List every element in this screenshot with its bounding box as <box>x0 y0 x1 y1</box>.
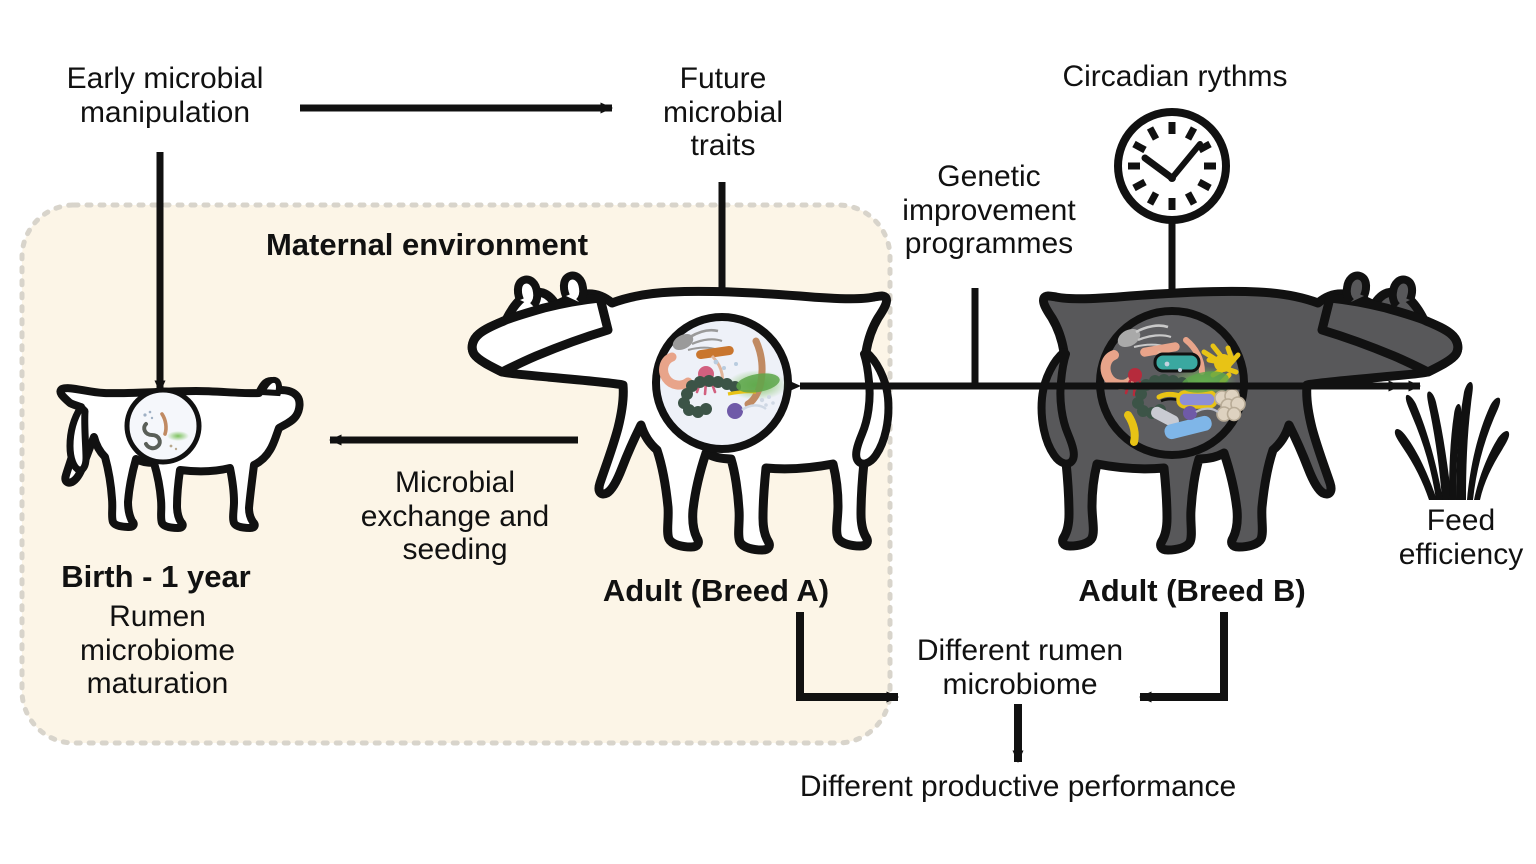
grass-icon <box>1395 382 1509 500</box>
label-future-microbial-traits: Future microbial traits <box>630 62 816 163</box>
clock-icon <box>1118 112 1226 220</box>
label-feed-efficiency: Feed efficiency <box>1386 504 1536 571</box>
label-genetic-improvement-programmes: Genetic improvement programmes <box>880 160 1098 261</box>
label-circadian-rythms: Circadian rythms <box>1030 60 1320 94</box>
label-different-productive-performance: Different productive performance <box>756 770 1280 804</box>
rumen-circle-breed-a-icon <box>656 317 788 449</box>
label-early-microbial-manipulation: Early microbial manipulation <box>40 62 290 129</box>
label-rumen-microbiome-maturation: Rumen microbiome maturation <box>60 600 255 701</box>
label-microbial-exchange-and-seeding: Microbial exchange and seeding <box>350 466 560 567</box>
label-adult-breed-a: Adult (Breed A) <box>566 574 866 609</box>
label-adult-breed-b: Adult (Breed B) <box>1042 574 1342 609</box>
arrow-breed-b-elbow <box>1140 612 1224 697</box>
label-different-rumen-microbiome: Different rumen microbiome <box>908 634 1132 701</box>
label-maternal-environment: Maternal environment <box>232 228 622 263</box>
rumen-circle-calf-icon <box>127 390 199 462</box>
diagram-canvas: Early microbial manipulation Future micr… <box>0 0 1536 864</box>
label-birth-one-year: Birth - 1 year <box>36 560 276 595</box>
